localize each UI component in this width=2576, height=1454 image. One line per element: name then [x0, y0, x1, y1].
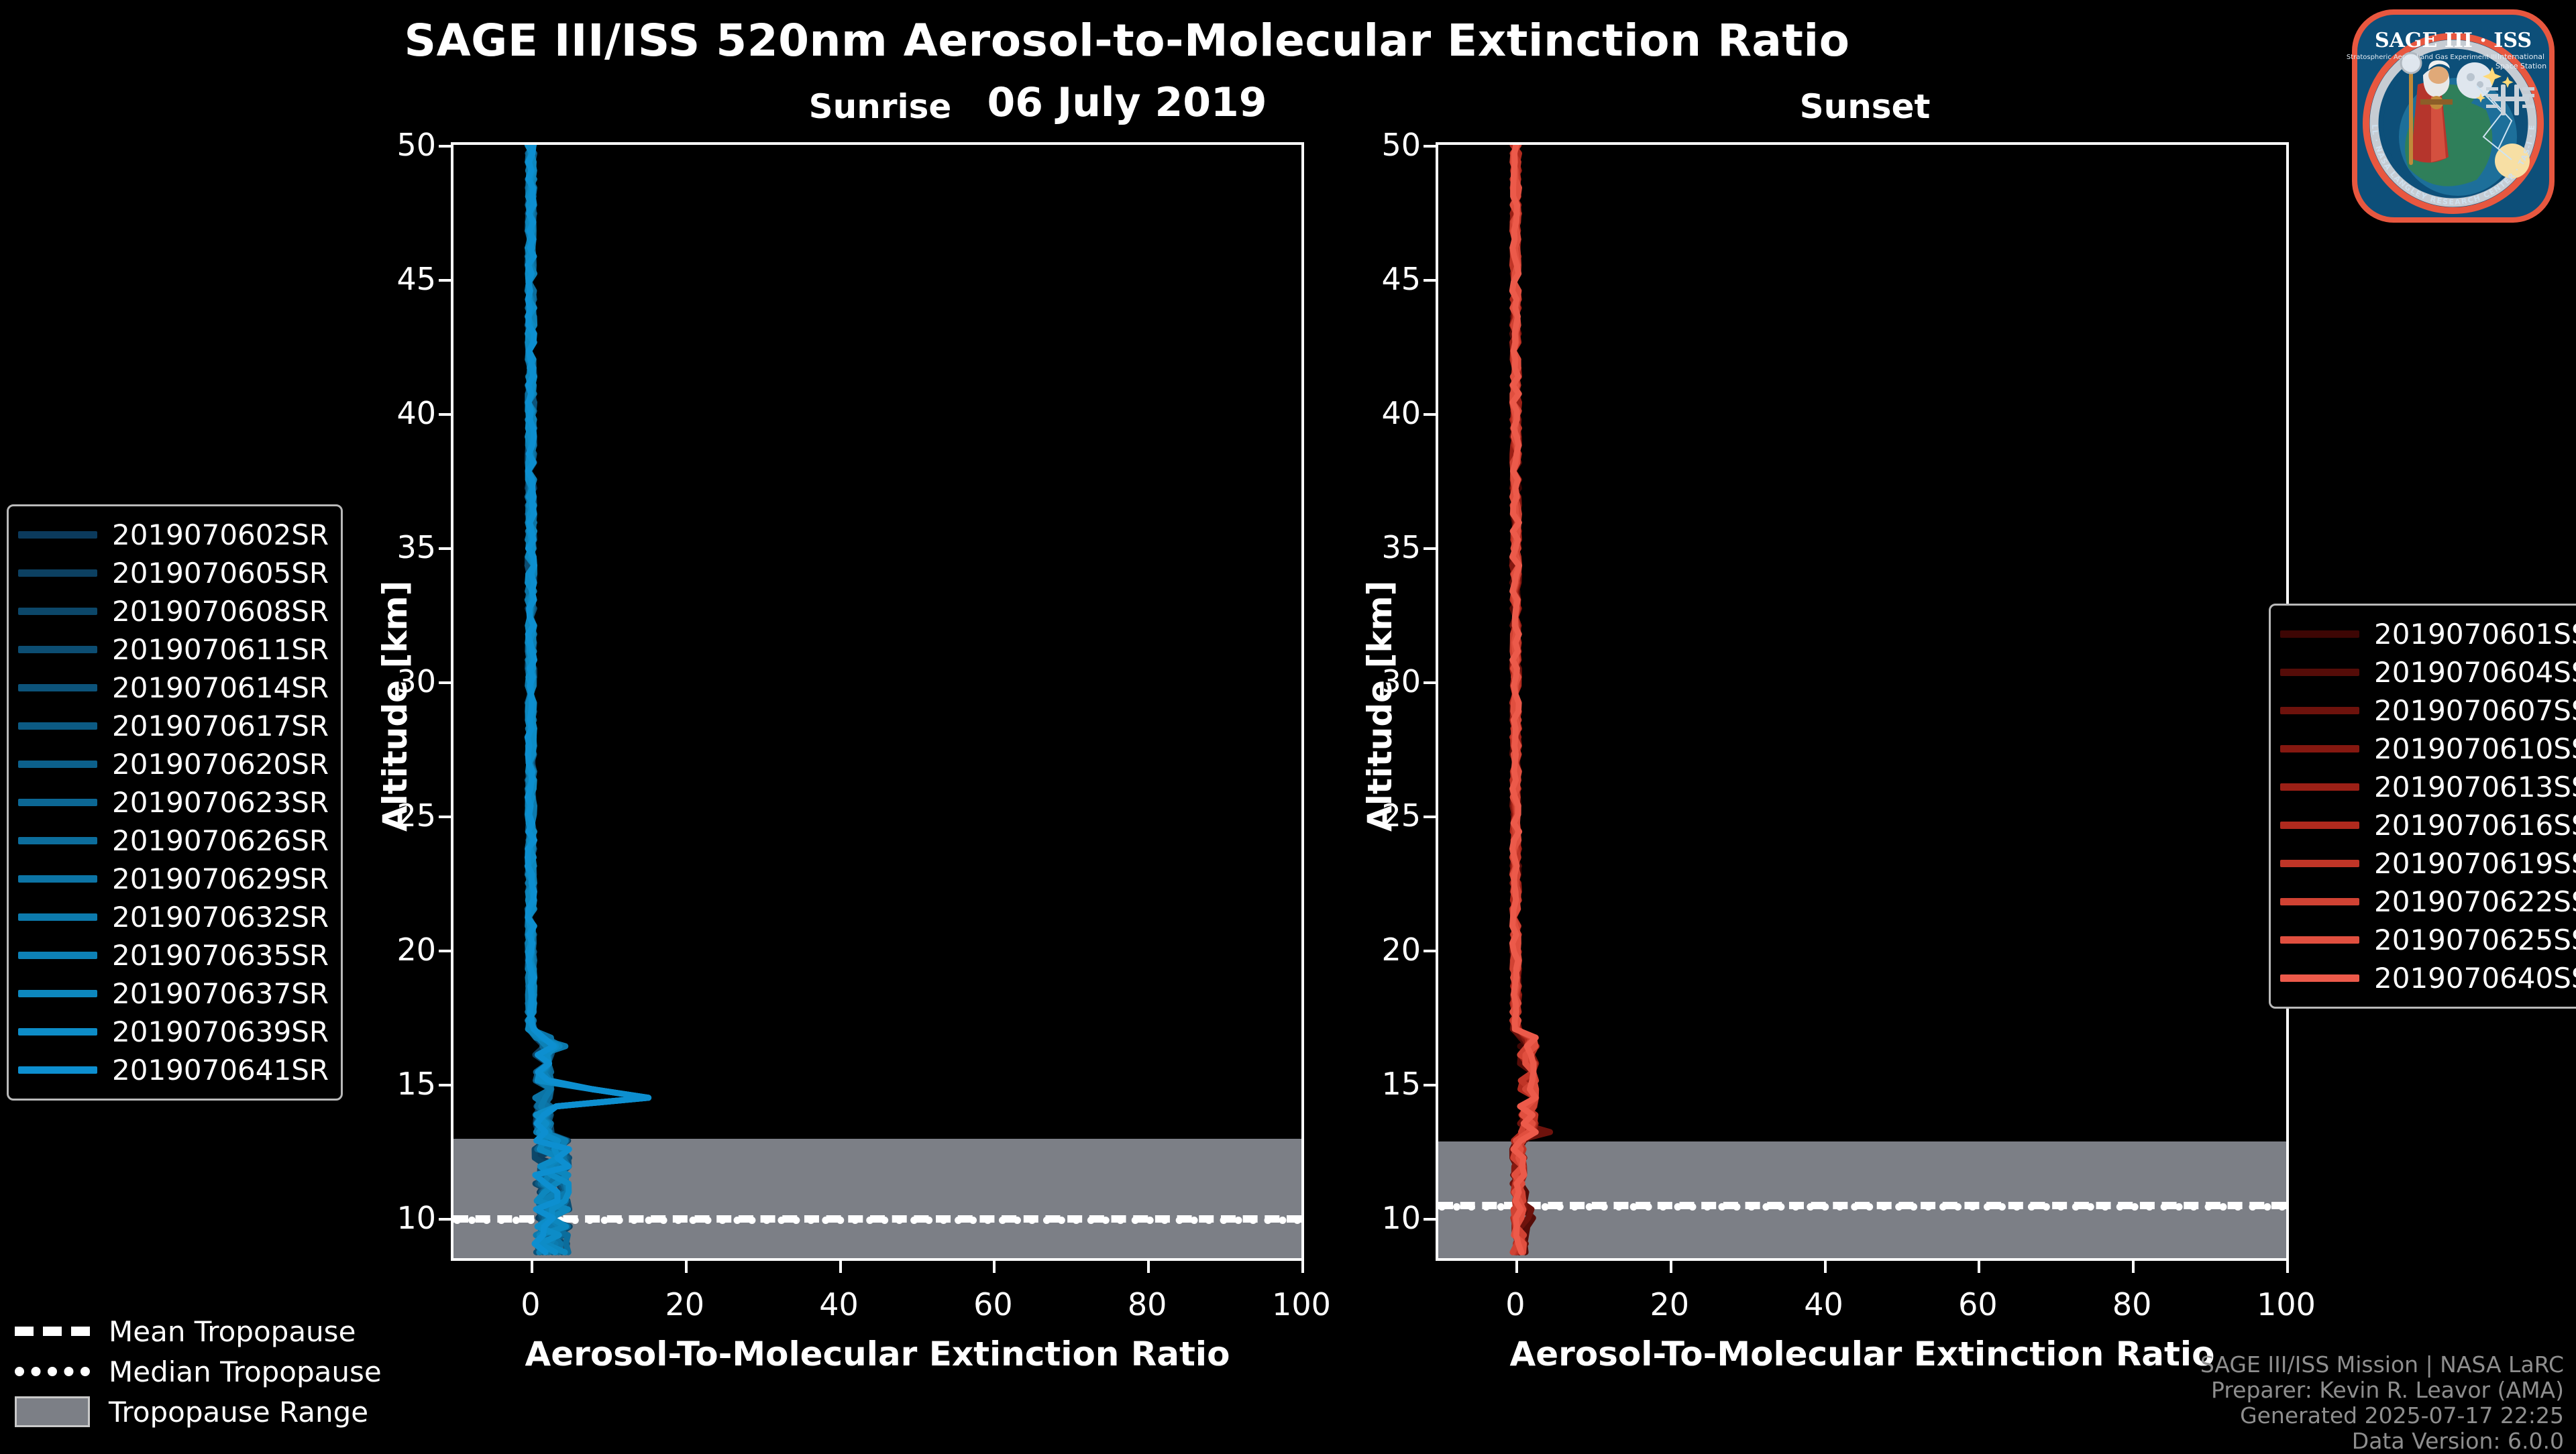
legend-label: 2019070617SR	[112, 710, 329, 742]
sunrise-series-lines	[453, 145, 1301, 1258]
legend-label: 2019070608SR	[112, 595, 329, 628]
legend-color-swatch	[18, 837, 97, 844]
y-tick-mark	[439, 279, 453, 282]
sunset-series-lines	[1438, 145, 2286, 1258]
patch-title: SAGE III · ISS	[2375, 29, 2532, 52]
y-tick-mark	[439, 413, 453, 416]
legend-label: 2019070614SR	[112, 671, 329, 704]
legend-item-2019070639SR[interactable]: 2019070639SR	[18, 1013, 329, 1051]
legend-color-swatch	[18, 531, 97, 539]
credits-data-version: Data Version: 6.0.0	[2200, 1429, 2564, 1454]
legend-item-2019070637SR[interactable]: 2019070637SR	[18, 974, 329, 1013]
y-tick-mark	[1424, 547, 1438, 550]
legend-label: 2019070639SR	[112, 1015, 329, 1048]
patch-subtitle: Stratospheric Aerosol and Gas Experiment…	[2347, 54, 2497, 61]
legend-label: 2019070619SS	[2374, 847, 2576, 880]
legend-item-tropopause-range: Tropopause Range	[15, 1392, 382, 1432]
sunset-x-axis-label: Aerosol-To-Molecular Extinction Ratio	[1436, 1335, 2289, 1374]
legend-item-2019070622SS[interactable]: 2019070622SS	[2280, 883, 2576, 921]
legend-color-swatch	[2280, 974, 2359, 982]
sage-iii-iss-mission-patch-logo: BALL · NASA LANGLEY RESEARCH CENTER · TA…	[2343, 5, 2564, 227]
legend-label: 2019070620SR	[112, 748, 329, 781]
legend-item-2019070610SS[interactable]: 2019070610SS	[2280, 730, 2576, 768]
legend-color-swatch	[18, 722, 97, 730]
legend-item-2019070640SS[interactable]: 2019070640SS	[2280, 959, 2576, 997]
sunset-plot-panel: 101520253035404550 020406080100	[1436, 142, 2289, 1261]
credits-preparer: Preparer: Kevin R. Leavor (AMA)	[2200, 1378, 2564, 1403]
legend-color-swatch	[2280, 745, 2359, 752]
legend-color-swatch	[18, 1028, 97, 1036]
legend-color-swatch	[2280, 783, 2359, 791]
legend-color-swatch	[2280, 707, 2359, 714]
y-tick-mark	[1424, 681, 1438, 684]
y-tick-mark	[439, 1084, 453, 1086]
legend-item-2019070611SR[interactable]: 2019070611SR	[18, 630, 329, 669]
legend-label: 2019070629SR	[112, 862, 329, 895]
legend-label: 2019070641SR	[112, 1054, 329, 1086]
filled-box-icon	[15, 1400, 90, 1424]
sunrise-x-axis-label: Aerosol-To-Molecular Extinction Ratio	[451, 1335, 1304, 1374]
y-tick-mark	[439, 547, 453, 550]
y-tick-mark	[439, 681, 453, 684]
legend-label: 2019070602SR	[112, 518, 329, 551]
legend-item-median-tropopause: Median Tropopause	[15, 1351, 382, 1392]
y-tick-mark	[1424, 145, 1438, 148]
x-tick-mark	[839, 1258, 842, 1273]
x-tick-mark	[2286, 1258, 2289, 1273]
legend-color-swatch	[18, 913, 97, 921]
x-tick-mark	[1147, 1258, 1150, 1273]
patch-iss-line2: Space Station	[2495, 62, 2546, 70]
legend-item-2019070620SR[interactable]: 2019070620SR	[18, 745, 329, 783]
x-tick-mark	[993, 1258, 996, 1273]
legend-label: 2019070622SS	[2374, 885, 2576, 918]
legend-label-tropopause-range: Tropopause Range	[109, 1396, 368, 1429]
legend-item-2019070635SR[interactable]: 2019070635SR	[18, 936, 329, 974]
legend-color-swatch	[18, 608, 97, 615]
sunset-series-legend[interactable]: 2019070601SS2019070604SS2019070607SS2019…	[2269, 604, 2576, 1009]
tropopause-legend: Mean Tropopause Median Tropopause Tropop…	[15, 1311, 382, 1432]
y-tick-mark	[439, 816, 453, 818]
legend-label: 2019070635SR	[112, 939, 329, 972]
legend-item-2019070608SR[interactable]: 2019070608SR	[18, 592, 329, 630]
legend-color-swatch	[18, 952, 97, 959]
legend-color-swatch	[2280, 860, 2359, 867]
legend-color-swatch	[18, 684, 97, 691]
x-tick-mark	[685, 1258, 688, 1273]
legend-item-mean-tropopause: Mean Tropopause	[15, 1311, 382, 1351]
legend-color-swatch	[2280, 669, 2359, 676]
page-title: SAGE III/ISS 520nm Aerosol-to-Molecular …	[0, 15, 2254, 66]
sunrise-plot-panel: 101520253035404550 020406080100	[451, 142, 1304, 1261]
legend-item-2019070604SS[interactable]: 2019070604SS	[2280, 653, 2576, 691]
legend-item-2019070605SR[interactable]: 2019070605SR	[18, 554, 329, 592]
legend-color-swatch	[18, 875, 97, 883]
legend-item-2019070641SR[interactable]: 2019070641SR	[18, 1051, 329, 1089]
legend-label: 2019070601SS	[2374, 618, 2576, 651]
credits-mission: SAGE III/ISS Mission | NASA LaRC	[2200, 1352, 2564, 1378]
legend-color-swatch	[2280, 898, 2359, 905]
legend-color-swatch	[2280, 822, 2359, 829]
x-tick-mark	[1824, 1258, 1827, 1273]
legend-color-swatch	[18, 1066, 97, 1074]
legend-item-2019070601SS[interactable]: 2019070601SS	[2280, 615, 2576, 653]
sunrise-series-legend[interactable]: 2019070602SR2019070605SR2019070608SR2019…	[7, 504, 343, 1101]
legend-item-2019070602SR[interactable]: 2019070602SR	[18, 516, 329, 554]
legend-label-mean-tropopause: Mean Tropopause	[109, 1315, 356, 1348]
sunset-plot-area	[1438, 145, 2286, 1258]
patch-iss-line1: International	[2498, 52, 2544, 61]
legend-item-2019070632SR[interactable]: 2019070632SR	[18, 898, 329, 936]
y-tick-mark	[439, 145, 453, 148]
legend-color-swatch	[18, 646, 97, 653]
legend-color-swatch	[2280, 936, 2359, 944]
legend-color-swatch	[18, 761, 97, 768]
legend-label: 2019070632SR	[112, 901, 329, 934]
legend-label: 2019070604SS	[2374, 656, 2576, 689]
x-tick-mark	[1670, 1258, 1672, 1273]
legend-label: 2019070611SR	[112, 633, 329, 666]
legend-label: 2019070613SS	[2374, 771, 2576, 803]
legend-item-2019070626SR[interactable]: 2019070626SR	[18, 822, 329, 860]
legend-item-2019070629SR[interactable]: 2019070629SR	[18, 860, 329, 898]
legend-color-swatch	[18, 990, 97, 997]
credits-generated: Generated 2025-07-17 22:25	[2200, 1403, 2564, 1429]
legend-label: 2019070637SR	[112, 977, 329, 1010]
sunset-y-axis-label: Altitude [km]	[1360, 580, 1399, 832]
y-tick-mark	[1424, 816, 1438, 818]
legend-label: 2019070626SR	[112, 824, 329, 857]
dotted-line-icon	[15, 1359, 90, 1384]
sunrise-y-axis-label: Altitude [km]	[376, 580, 415, 832]
legend-item-2019070623SR[interactable]: 2019070623SR	[18, 783, 329, 822]
legend-item-2019070625SS[interactable]: 2019070625SS	[2280, 921, 2576, 959]
legend-label: 2019070616SS	[2374, 809, 2576, 842]
legend-color-swatch	[2280, 630, 2359, 638]
sunset-subtitle: Sunset	[1436, 87, 2294, 126]
legend-item-2019070614SR[interactable]: 2019070614SR	[18, 669, 329, 707]
y-tick-mark	[1424, 1218, 1438, 1221]
x-tick-mark	[2132, 1258, 2135, 1273]
legend-label: 2019070610SS	[2374, 732, 2576, 765]
y-tick-mark	[439, 950, 453, 952]
legend-label: 2019070640SS	[2374, 962, 2576, 995]
x-tick-mark	[1515, 1258, 1518, 1273]
x-tick-mark	[531, 1258, 533, 1273]
y-tick-mark	[1424, 413, 1438, 416]
legend-item-2019070619SS[interactable]: 2019070619SS	[2280, 844, 2576, 883]
y-tick-mark	[1424, 1084, 1438, 1086]
legend-label-median-tropopause: Median Tropopause	[109, 1355, 382, 1388]
y-tick-mark	[439, 1218, 453, 1221]
legend-color-swatch	[18, 799, 97, 806]
x-tick-mark	[1978, 1258, 1980, 1273]
sunrise-plot-area	[453, 145, 1301, 1258]
credits-block: SAGE III/ISS Mission | NASA LaRC Prepare…	[2200, 1352, 2564, 1454]
sunrise-subtitle: Sunrise	[451, 87, 1309, 126]
legend-label: 2019070605SR	[112, 557, 329, 590]
legend-item-2019070613SS[interactable]: 2019070613SS	[2280, 768, 2576, 806]
legend-label: 2019070625SS	[2374, 924, 2576, 956]
legend-label: 2019070623SR	[112, 786, 329, 819]
legend-color-swatch	[18, 569, 97, 577]
dashed-line-icon	[15, 1319, 90, 1343]
y-tick-mark	[1424, 279, 1438, 282]
y-tick-mark	[1424, 950, 1438, 952]
legend-item-2019070616SS[interactable]: 2019070616SS	[2280, 806, 2576, 844]
x-tick-mark	[1301, 1258, 1304, 1273]
legend-item-2019070607SS[interactable]: 2019070607SS	[2280, 691, 2576, 730]
legend-item-2019070617SR[interactable]: 2019070617SR	[18, 707, 329, 745]
legend-label: 2019070607SS	[2374, 694, 2576, 727]
